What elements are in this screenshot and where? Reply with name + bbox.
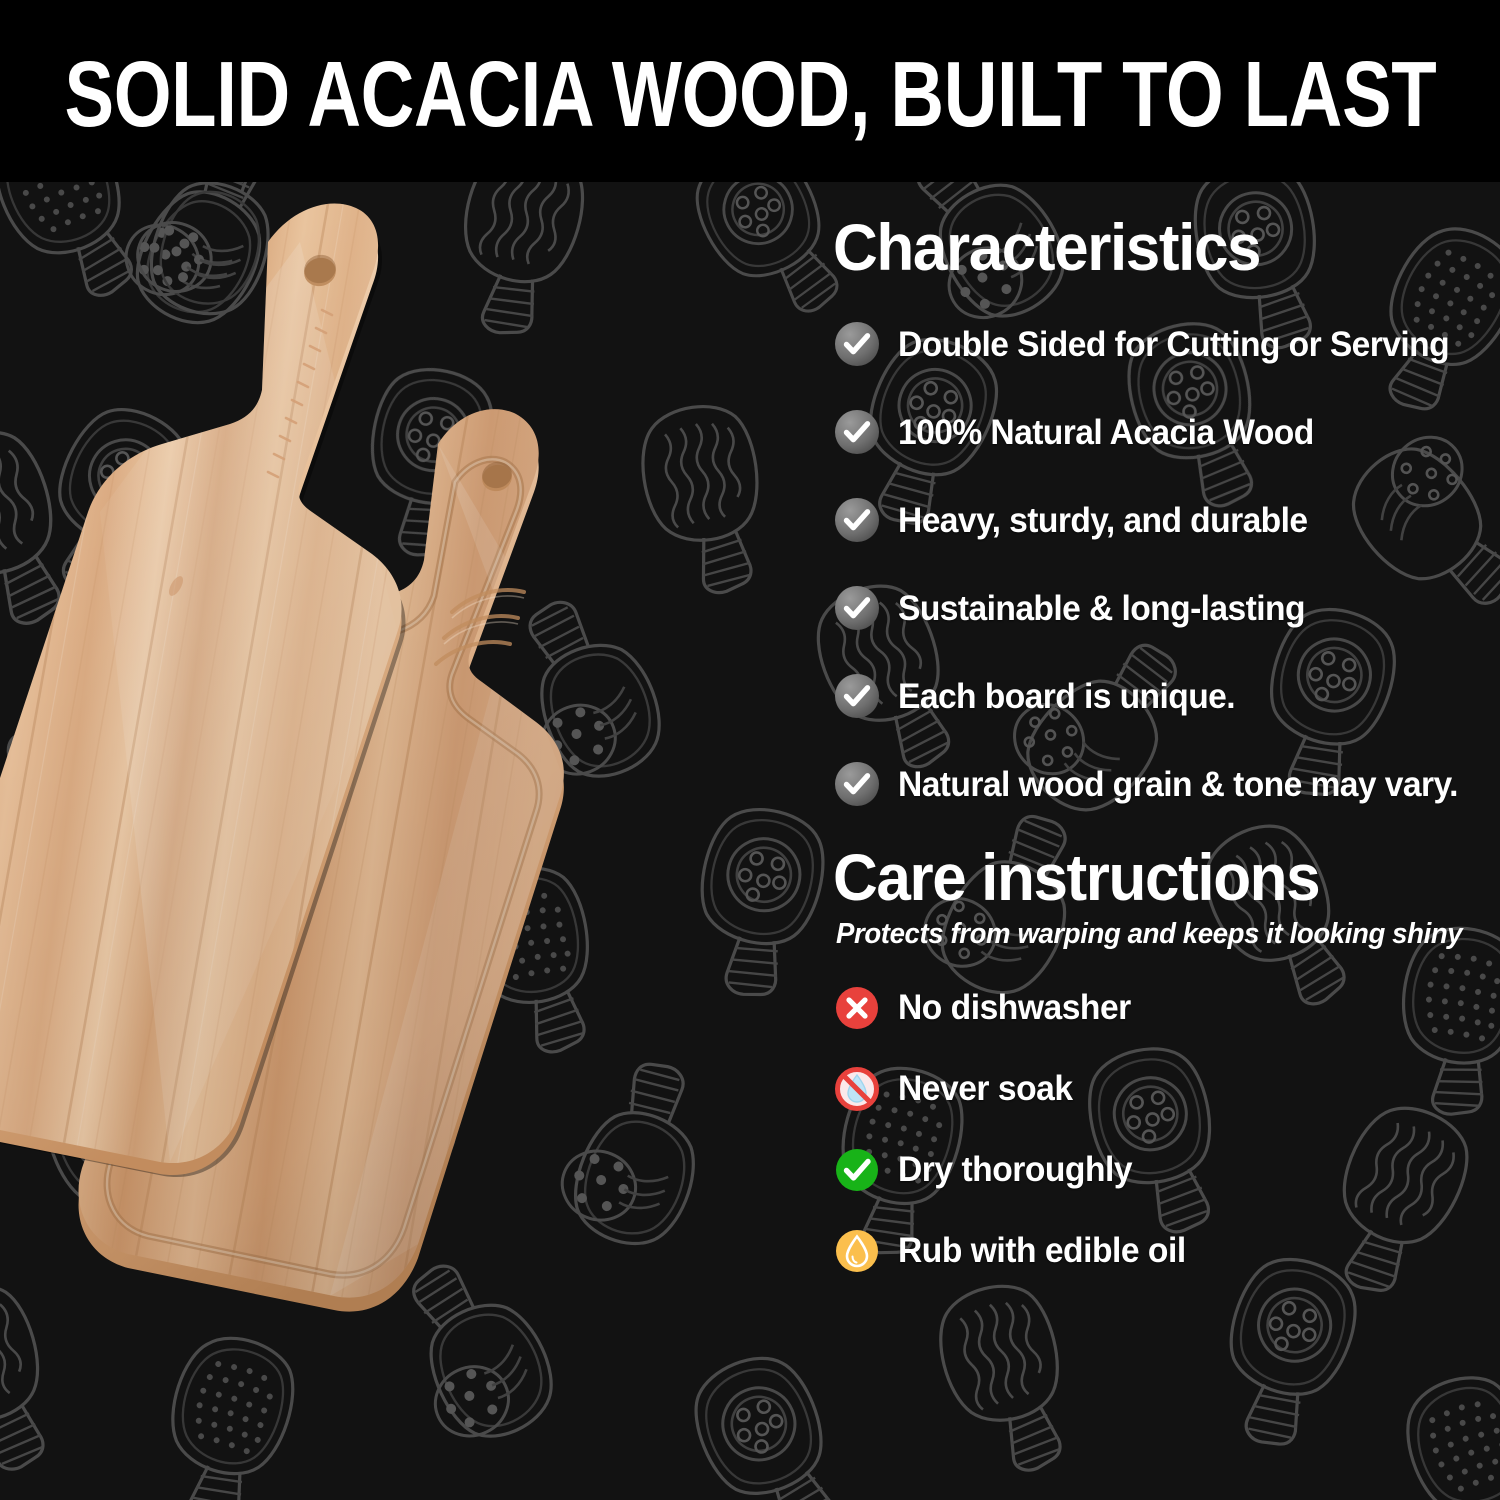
- no-water-prohibition-icon: [833, 1065, 881, 1113]
- check-circle-gray-icon: [833, 496, 881, 544]
- care-item: Rub with edible oil: [833, 1217, 1198, 1284]
- characteristic-label: Natural wood grain & tone may vary.: [898, 767, 1458, 802]
- care-label: Dry thoroughly: [898, 1152, 1132, 1187]
- check-circle-gray-icon: [833, 320, 881, 368]
- characteristic-item: Double Sided for Cutting or Serving: [833, 307, 1481, 381]
- content-column: Characteristics Double Sided for Cutting…: [830, 182, 1500, 1500]
- characteristic-label: Sustainable & long-lasting: [898, 591, 1305, 626]
- care-item: Dry thoroughly: [833, 1136, 1198, 1203]
- oil-droplet-amber-icon: [833, 1227, 881, 1275]
- body-area: Characteristics Double Sided for Cutting…: [0, 182, 1500, 1500]
- characteristic-item: Sustainable & long-lasting: [833, 571, 1481, 645]
- x-circle-red-icon: [833, 984, 881, 1032]
- care-label: Never soak: [898, 1071, 1073, 1106]
- characteristic-item: 100% Natural Acacia Wood: [833, 395, 1481, 469]
- characteristic-label: 100% Natural Acacia Wood: [898, 415, 1314, 450]
- check-circle-gray-icon: [833, 408, 881, 456]
- check-circle-gray-icon: [833, 672, 881, 720]
- care-subtitle: Protects from warping and keeps it looki…: [836, 920, 1462, 949]
- care-item: Never soak: [833, 1055, 1198, 1122]
- check-circle-green-icon: [833, 1146, 881, 1194]
- characteristics-heading: Characteristics: [833, 214, 1260, 280]
- characteristics-list: Double Sided for Cutting or Serving 100%…: [833, 307, 1481, 821]
- care-label: No dishwasher: [898, 990, 1131, 1025]
- characteristic-label: Double Sided for Cutting or Serving: [898, 327, 1449, 362]
- header-banner: SOLID ACACIA WOOD, BUILT TO LAST: [0, 0, 1500, 182]
- care-item: No dishwasher: [833, 974, 1198, 1041]
- product-image: [0, 182, 830, 1500]
- characteristic-item: Heavy, sturdy, and durable: [833, 483, 1481, 557]
- characteristic-item: Each board is unique.: [833, 659, 1481, 733]
- care-label: Rub with edible oil: [898, 1233, 1186, 1268]
- characteristic-label: Heavy, sturdy, and durable: [898, 503, 1308, 538]
- care-list: No dishwasher Never soak: [833, 974, 1198, 1284]
- check-circle-gray-icon: [833, 760, 881, 808]
- page-title: SOLID ACACIA WOOD, BUILT TO LAST: [64, 42, 1436, 141]
- characteristic-label: Each board is unique.: [898, 679, 1235, 714]
- characteristic-item: Natural wood grain & tone may vary.: [833, 747, 1481, 821]
- check-circle-gray-icon: [833, 584, 881, 632]
- infographic-page: SOLID ACACIA WOOD, BUILT TO LAST: [0, 0, 1500, 1500]
- care-heading: Care instructions: [833, 844, 1319, 910]
